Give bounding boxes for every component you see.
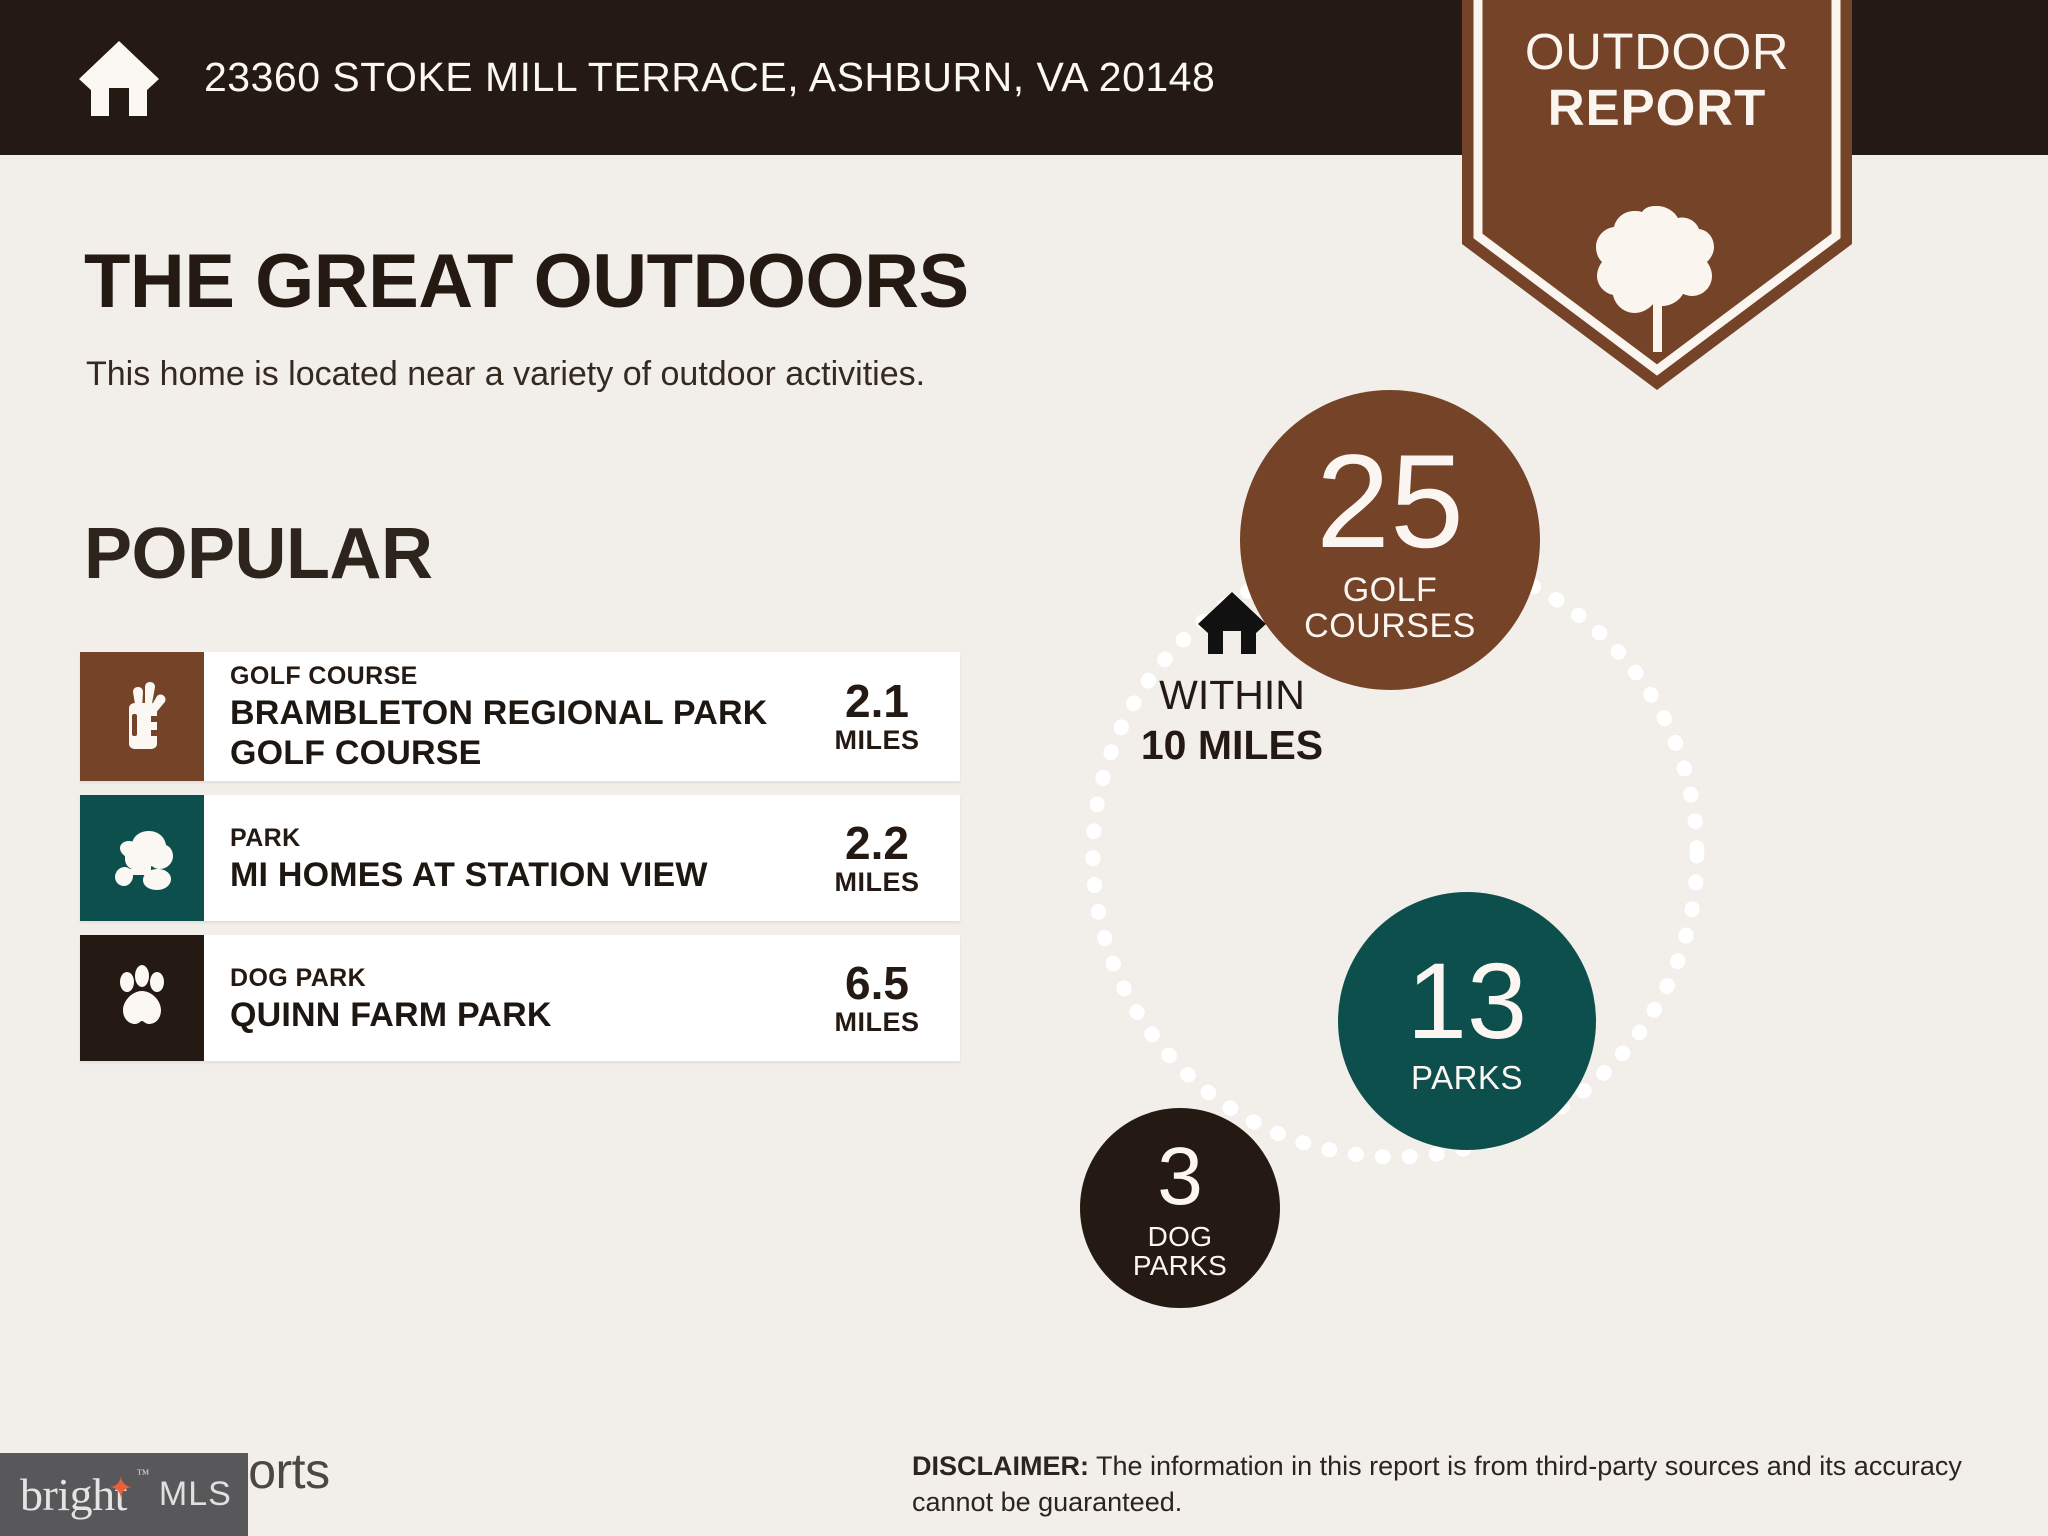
list-item[interactable]: DOG PARK QUINN FARM PARK 6.5 MILES [80,935,960,1061]
stat-circle-parks: 13 PARKS [1338,892,1596,1150]
center-within-text: WITHIN [1057,670,1407,720]
brightmls-brand: bright ✦ ™ [20,1468,127,1521]
property-address: 23360 STOKE MILL TERRACE, ASHBURN, VA 20… [204,54,1215,101]
list-item-category: PARK [230,822,810,855]
disclaimer: DISCLAIMER: The information in this repo… [912,1448,1972,1520]
amenities-diagram: 25 GOLF COURSES 13 PARKS 3 DOG PARKS WIT… [1080,430,1900,1280]
brightmls-mls-text: MLS [159,1475,232,1514]
distance-value: 2.1 [810,677,944,725]
distance-unit: MILES [810,1007,944,1038]
distance-value: 2.2 [810,819,944,867]
distance-unit: MILES [810,867,944,898]
list-item-body: PARK MI HOMES AT STATION VIEW 2.2 MILES [204,795,960,921]
disclaimer-label: DISCLAIMER: [912,1451,1089,1481]
list-item-distance: 6.5 MILES [810,959,960,1038]
list-item[interactable]: GOLF COURSE BRAMBLETON REGIONAL PARK GOL… [80,652,960,781]
stat-label-line1: DOG [1148,1222,1213,1251]
outdoor-report-page: 23360 STOKE MILL TERRACE, ASHBURN, VA 20… [0,0,2048,1536]
list-item-distance: 2.1 MILES [810,677,960,756]
list-item[interactable]: PARK MI HOMES AT STATION VIEW 2.2 MILES [80,795,960,921]
distance-unit: MILES [810,725,944,756]
list-item-body: DOG PARK QUINN FARM PARK 6.5 MILES [204,935,960,1061]
list-item-distance: 2.2 MILES [810,819,960,898]
stat-count: 3 [1157,1136,1203,1218]
page-title: THE GREAT OUTDOORS [84,238,969,325]
page-subtitle: This home is located near a variety of o… [86,355,925,394]
stat-count: 13 [1407,947,1527,1055]
list-item-category: DOG PARK [230,962,810,995]
home-icon [76,38,162,118]
home-icon [1196,590,1268,656]
stat-label-line2: PARKS [1133,1251,1227,1280]
brightmls-watermark: bright ✦ ™ MLS [0,1453,248,1536]
distance-value: 6.5 [810,959,944,1007]
popular-section-heading: POPULAR [84,513,433,595]
stat-circle-dog-parks: 3 DOG PARKS [1080,1108,1280,1308]
list-item-body: GOLF COURSE BRAMBLETON REGIONAL PARK GOL… [204,652,960,781]
list-item-name: BRAMBLETON REGIONAL PARK GOLF COURSE [230,693,810,773]
stat-count: 25 [1316,436,1464,569]
list-item-category: GOLF COURSE [230,660,810,693]
trademark-mark: ™ [137,1466,149,1482]
popular-list: GOLF COURSE BRAMBLETON REGIONAL PARK GOL… [80,652,960,1075]
list-item-name: QUINN FARM PARK [230,995,810,1035]
center-radius-text: 10 MILES [1057,720,1407,770]
golf-bag-icon [80,652,204,781]
diagram-center-label: WITHIN 10 MILES [1057,590,1407,770]
trees-icon [80,795,204,921]
list-item-name: MI HOMES AT STATION VIEW [230,855,810,895]
star-icon: ✦ [108,1474,133,1504]
paw-print-icon [80,935,204,1061]
stat-label-line1: PARKS [1411,1061,1523,1096]
outdoor-report-badge: OUTDOOR REPORT [1462,0,1852,390]
